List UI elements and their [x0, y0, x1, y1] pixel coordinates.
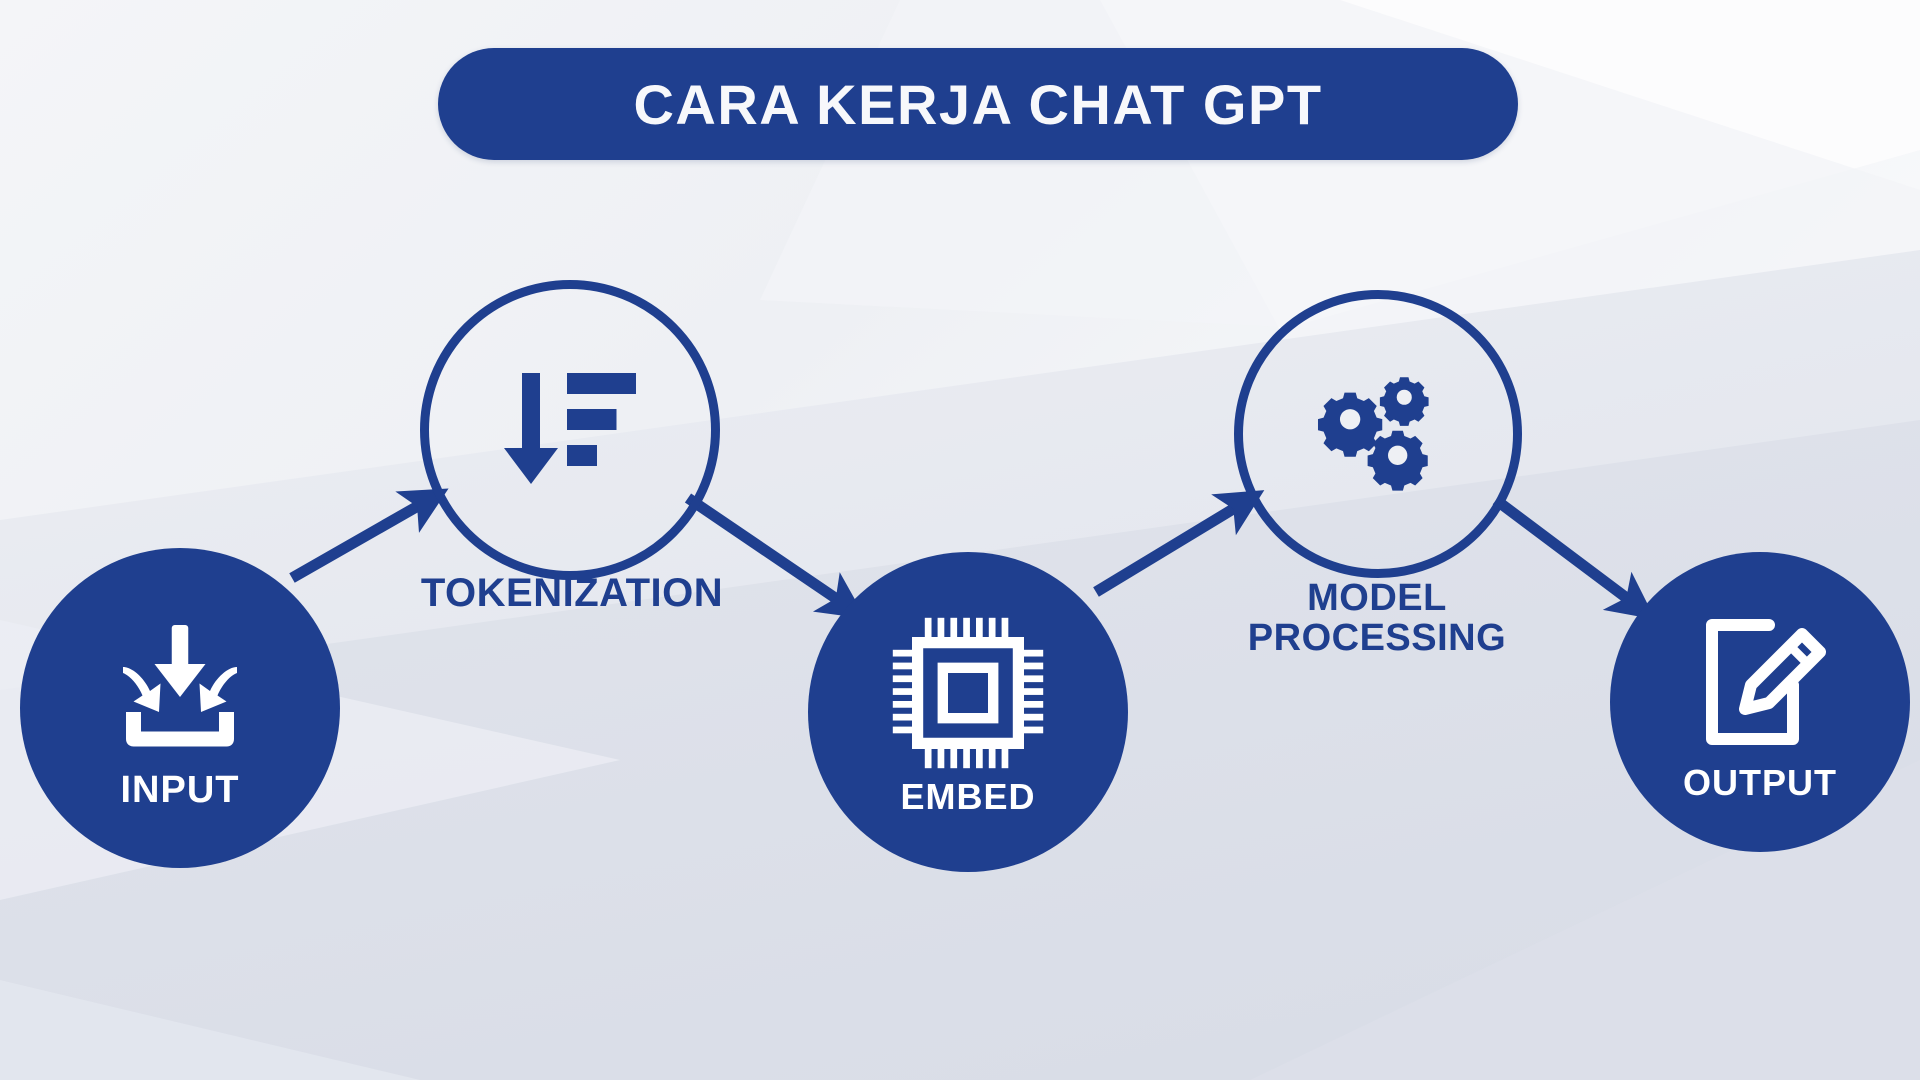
- page-title: CARA KERJA CHAT GPT: [633, 72, 1322, 137]
- sort-descending-icon: [495, 355, 645, 505]
- flow-step-tokenization-label: TOKENIZATION: [392, 572, 752, 614]
- flow-step-embed-label: EMBED: [900, 779, 1035, 815]
- flow-step-model-processing[interactable]: [1234, 290, 1522, 578]
- cpu-chip-icon: [888, 613, 1048, 773]
- flow-step-output[interactable]: OUTPUT: [1610, 552, 1910, 852]
- gears-icon: [1296, 352, 1460, 516]
- flow-step-model-processing-label: MODEL PROCESSING: [1222, 578, 1532, 659]
- flow-step-tokenization[interactable]: [420, 280, 720, 580]
- document-pencil-icon: [1685, 607, 1835, 757]
- flow-step-input[interactable]: INPUT: [20, 548, 340, 868]
- flow-step-output-label: OUTPUT: [1683, 765, 1837, 801]
- flow-step-embed[interactable]: EMBED: [808, 552, 1128, 872]
- title-banner: CARA KERJA CHAT GPT: [438, 48, 1518, 160]
- flow-step-input-label: INPUT: [121, 771, 240, 809]
- download-to-tray-icon: [105, 613, 255, 763]
